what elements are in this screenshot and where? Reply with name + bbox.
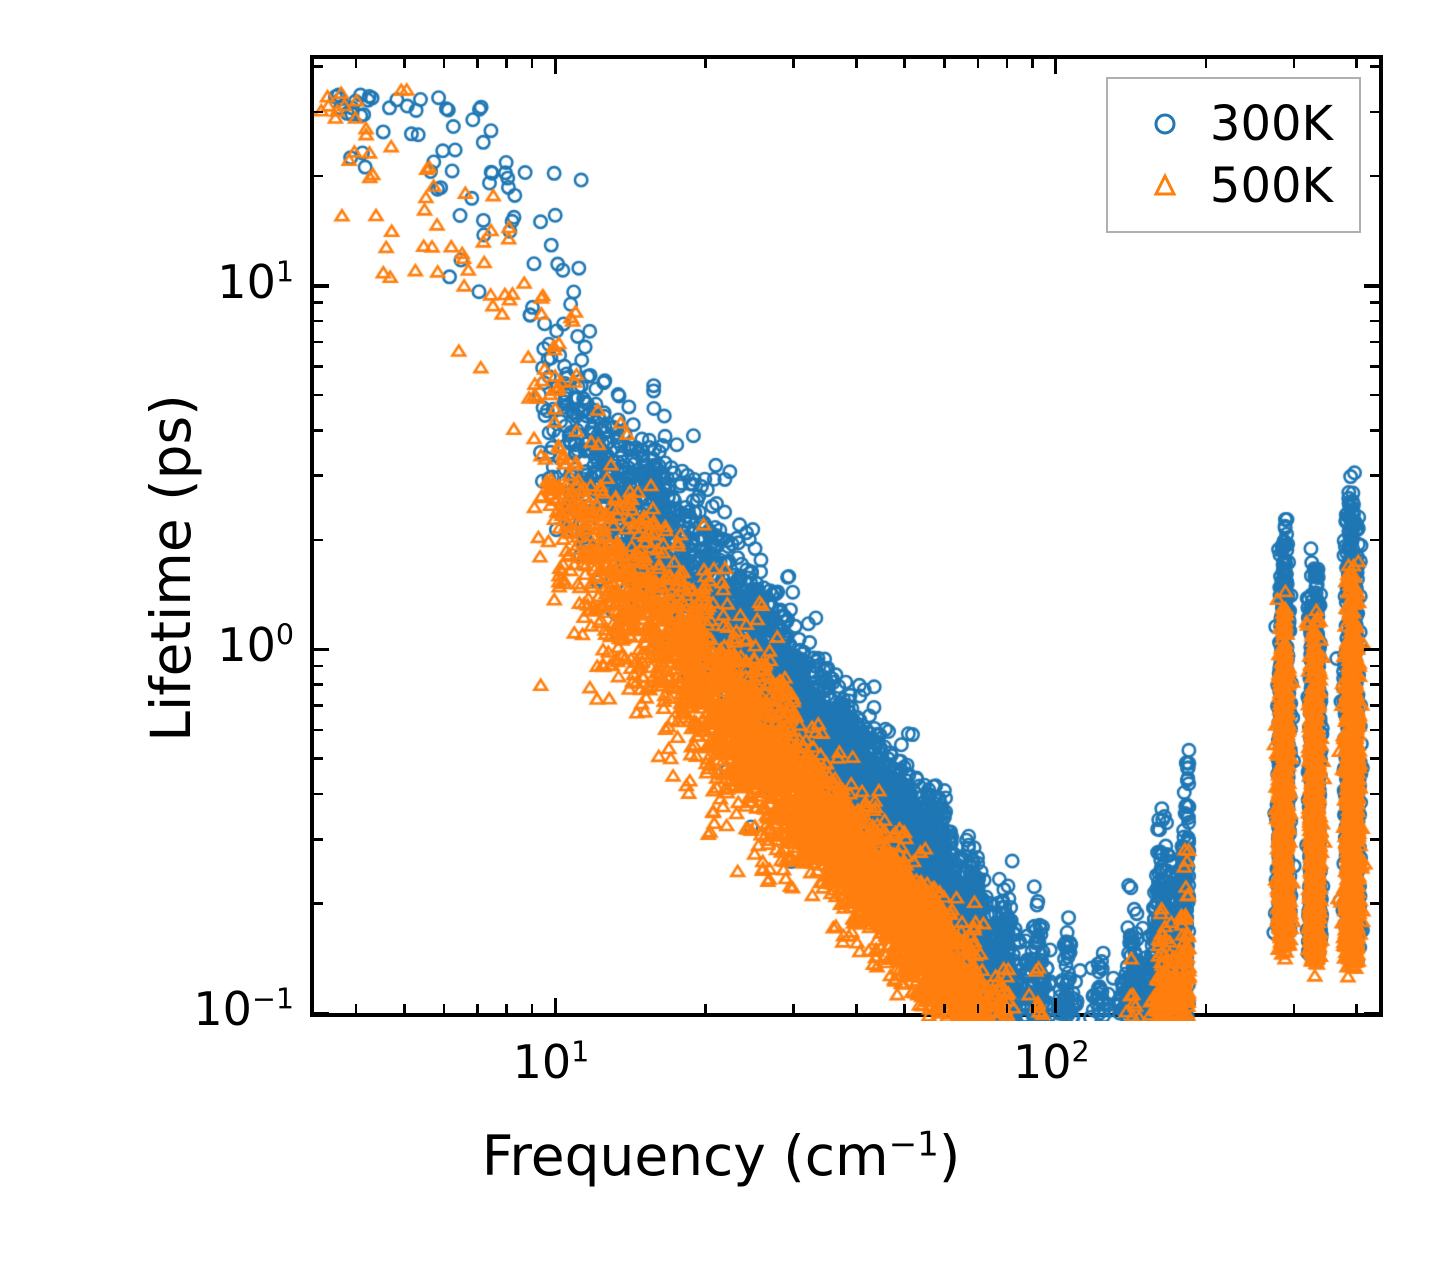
y-minor-tick-right bbox=[1370, 902, 1379, 905]
y-minor-tick-right bbox=[1370, 729, 1379, 732]
y-axis-label: Lifetime (ps) bbox=[139, 87, 203, 1049]
y-minor-tick bbox=[314, 474, 323, 477]
x-major-tick-top bbox=[1054, 59, 1057, 74]
y-minor-tick-right bbox=[1370, 394, 1379, 397]
x-major-tick bbox=[1054, 998, 1057, 1013]
y-minor-tick bbox=[314, 175, 323, 178]
x-minor-tick bbox=[1031, 1004, 1034, 1013]
y-minor-tick-right bbox=[1370, 320, 1379, 323]
x-minor-tick bbox=[943, 1004, 946, 1013]
x-minor-tick-top bbox=[355, 59, 358, 68]
y-minor-tick bbox=[314, 301, 323, 304]
y-minor-tick bbox=[314, 838, 323, 841]
legend-entry-300k[interactable]: 300K bbox=[1126, 93, 1333, 155]
x-minor-tick-top bbox=[443, 59, 446, 68]
y-minor-tick-right bbox=[1370, 365, 1379, 368]
x-minor-tick-top bbox=[943, 59, 946, 68]
y-minor-tick bbox=[314, 365, 323, 368]
y-minor-tick bbox=[314, 704, 323, 707]
legend-marker-circle-icon bbox=[1126, 107, 1204, 141]
y-minor-tick-right bbox=[1370, 111, 1379, 114]
y-major-tick-right bbox=[1364, 1012, 1379, 1015]
x-minor-tick-top bbox=[531, 59, 534, 68]
y-major-tick bbox=[314, 1012, 329, 1015]
x-minor-tick bbox=[977, 1004, 980, 1013]
x-minor-tick bbox=[1006, 1004, 1009, 1013]
x-minor-tick-top bbox=[704, 59, 707, 68]
x-major-tick bbox=[554, 998, 557, 1013]
y-minor-tick-right bbox=[1370, 175, 1379, 178]
x-minor-tick bbox=[443, 1004, 446, 1013]
y-minor-tick bbox=[314, 429, 323, 432]
x-major-tick-top bbox=[554, 59, 557, 74]
x-minor-tick-top bbox=[1006, 59, 1009, 68]
x-minor-tick bbox=[1355, 1004, 1358, 1013]
x-minor-tick-top bbox=[792, 59, 795, 68]
y-minor-tick bbox=[314, 111, 323, 114]
x-tick-label: 101 bbox=[513, 1039, 590, 1085]
legend-label-300k: 300K bbox=[1204, 96, 1333, 152]
y-minor-tick bbox=[314, 902, 323, 905]
x-minor-tick-top bbox=[476, 59, 479, 68]
y-minor-tick bbox=[314, 394, 323, 397]
y-minor-tick-right bbox=[1370, 429, 1379, 432]
x-minor-tick bbox=[903, 1004, 906, 1013]
x-minor-tick bbox=[1293, 1004, 1296, 1013]
y-minor-tick-right bbox=[1370, 65, 1379, 68]
x-minor-tick bbox=[704, 1004, 707, 1013]
y-minor-tick-right bbox=[1370, 301, 1379, 304]
x-minor-tick bbox=[355, 1004, 358, 1013]
y-minor-tick-right bbox=[1370, 683, 1379, 686]
x-minor-tick bbox=[1205, 1004, 1208, 1013]
y-tick-label: 100 bbox=[217, 622, 294, 668]
x-minor-tick-top bbox=[403, 59, 406, 68]
y-minor-tick-right bbox=[1370, 838, 1379, 841]
y-minor-tick bbox=[314, 683, 323, 686]
x-minor-tick bbox=[476, 1004, 479, 1013]
y-minor-tick-right bbox=[1370, 341, 1379, 344]
y-minor-tick-right bbox=[1370, 539, 1379, 542]
y-minor-tick bbox=[314, 320, 323, 323]
legend-entry-500k[interactable]: 500K bbox=[1126, 155, 1333, 217]
x-minor-tick bbox=[855, 1004, 858, 1013]
y-minor-tick-right bbox=[1370, 757, 1379, 760]
y-minor-tick-right bbox=[1370, 793, 1379, 796]
y-minor-tick bbox=[314, 65, 323, 68]
y-tick-label: 101 bbox=[217, 259, 294, 305]
plot-area: 300K 500K bbox=[310, 55, 1383, 1017]
y-major-tick bbox=[314, 648, 329, 651]
x-minor-tick-top bbox=[977, 59, 980, 68]
legend-label-500k: 500K bbox=[1204, 158, 1333, 214]
y-minor-tick bbox=[314, 793, 323, 796]
x-minor-tick bbox=[505, 1004, 508, 1013]
x-minor-tick bbox=[531, 1004, 534, 1013]
y-minor-tick-right bbox=[1370, 704, 1379, 707]
y-minor-tick bbox=[314, 341, 323, 344]
x-minor-tick-top bbox=[1205, 59, 1208, 68]
x-minor-tick-top bbox=[855, 59, 858, 68]
y-major-tick bbox=[314, 284, 329, 287]
chart-legend[interactable]: 300K 500K bbox=[1106, 77, 1361, 233]
y-minor-tick-right bbox=[1370, 474, 1379, 477]
y-minor-tick bbox=[314, 665, 323, 668]
x-minor-tick bbox=[403, 1004, 406, 1013]
x-tick-label: 102 bbox=[1013, 1039, 1090, 1085]
legend-marker-triangle-icon bbox=[1126, 169, 1204, 203]
figure-canvas: 300K 500K 10110210−1100101 Frequency (cm… bbox=[0, 0, 1442, 1265]
x-minor-tick-top bbox=[1031, 59, 1034, 68]
y-minor-tick bbox=[314, 539, 323, 542]
y-tick-label: 10−1 bbox=[193, 986, 294, 1032]
x-minor-tick-top bbox=[1355, 59, 1358, 68]
y-major-tick-right bbox=[1364, 284, 1379, 287]
x-minor-tick-top bbox=[903, 59, 906, 68]
x-minor-tick bbox=[792, 1004, 795, 1013]
y-minor-tick bbox=[314, 757, 323, 760]
y-major-tick-right bbox=[1364, 648, 1379, 651]
x-minor-tick-top bbox=[505, 59, 508, 68]
y-minor-tick bbox=[314, 729, 323, 732]
y-minor-tick-right bbox=[1370, 665, 1379, 668]
x-axis-label: Frequency (cm−1) bbox=[0, 1124, 1442, 1188]
x-minor-tick-top bbox=[1293, 59, 1296, 68]
